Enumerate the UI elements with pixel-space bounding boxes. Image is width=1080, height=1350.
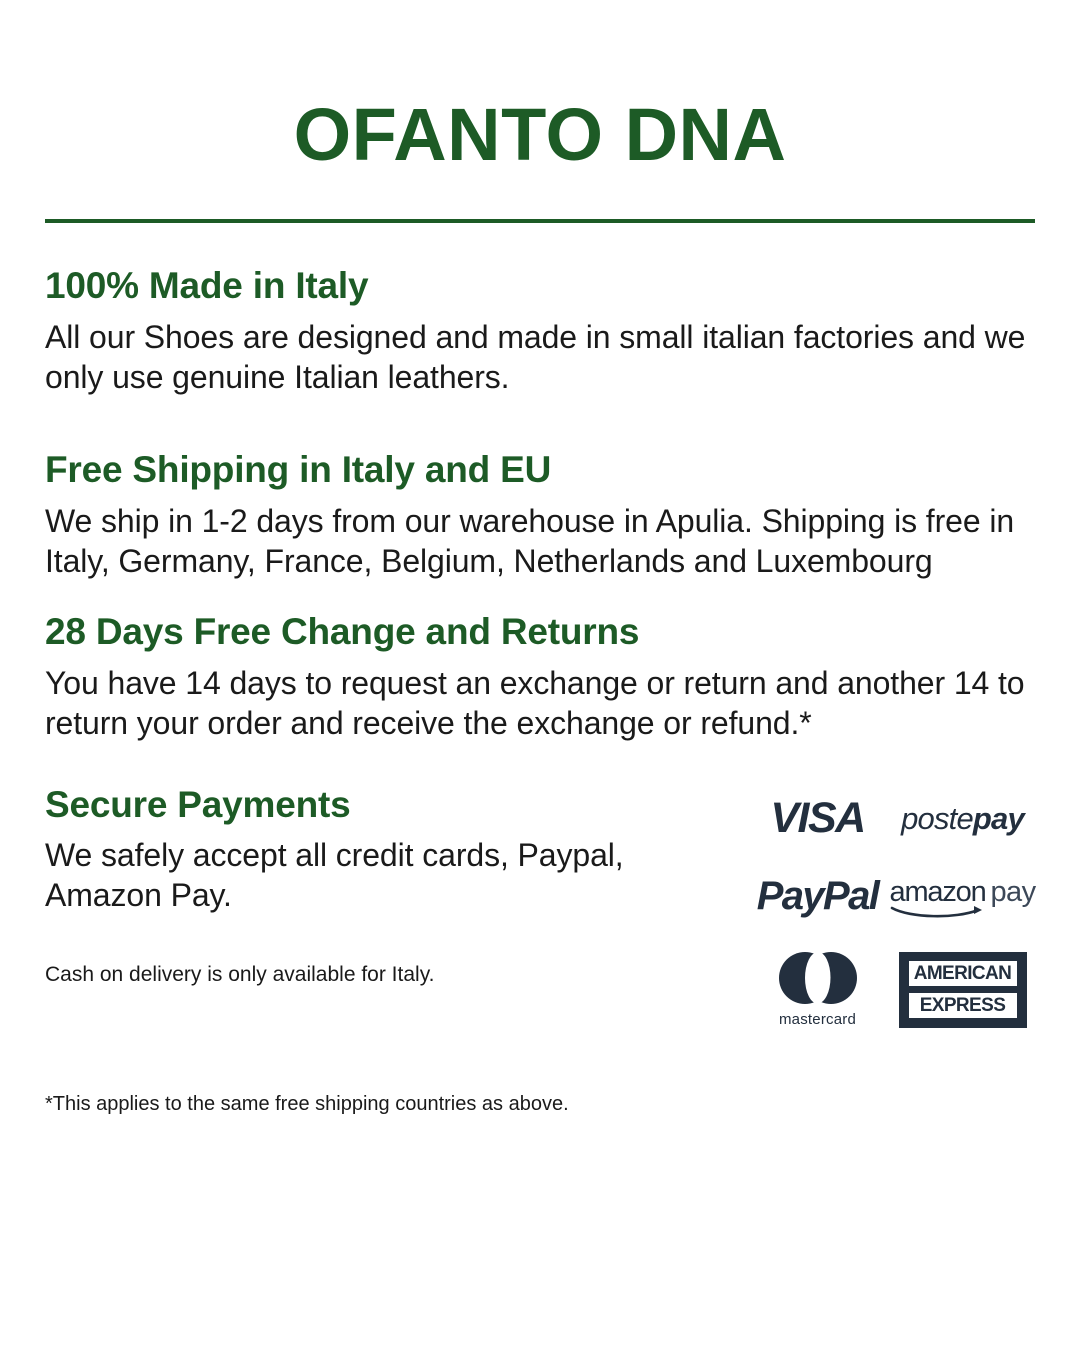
postepay-logo-cell: postepay (890, 791, 1035, 847)
section-secure-payments: Secure Payments We safely accept all cre… (45, 784, 1035, 1033)
visa-logo-cell: VISA (745, 791, 890, 847)
title-divider (45, 219, 1035, 223)
postepay-label-light: poste (901, 801, 973, 836)
section-change-and-returns: 28 Days Free Change and Returns You have… (45, 611, 1035, 743)
section-body-change-and-returns: You have 14 days to request an exchange … (45, 663, 1035, 744)
amazon-pay-icon: amazonpay (890, 876, 1036, 918)
page-title: OFANTO DNA (45, 98, 1035, 172)
sections-container: 100% Made in Italy All our Shoes are des… (45, 265, 1035, 1117)
section-made-in-italy: 100% Made in Italy All our Shoes are des… (45, 265, 1035, 397)
section-heading-free-shipping: Free Shipping in Italy and EU (45, 449, 1035, 492)
section-body-secure-payments: We safely accept all credit cards, Paypa… (45, 835, 695, 916)
section-heading-change-and-returns: 28 Days Free Change and Returns (45, 611, 1035, 654)
cash-on-delivery-note: Cash on delivery is only available for I… (45, 961, 695, 988)
title-block: OFANTO DNA (45, 0, 1035, 223)
amazon-smile-icon (890, 905, 994, 919)
section-heading-secure-payments: Secure Payments (45, 784, 695, 827)
mastercard-circles (779, 952, 857, 1004)
secure-payments-text: Secure Payments We safely accept all cre… (45, 784, 695, 988)
section-free-shipping: Free Shipping in Italy and EU We ship in… (45, 449, 1035, 581)
amazon-label: amazon (890, 876, 986, 908)
mastercard-overlap (805, 952, 831, 1004)
section-heading-made-in-italy: 100% Made in Italy (45, 265, 1035, 308)
visa-icon: VISA (770, 794, 864, 843)
amex-logo-cell: AMERICAN EXPRESS (890, 947, 1035, 1033)
mastercard-icon: mastercard (779, 952, 857, 1028)
paypal-icon: PayPal (757, 874, 879, 919)
payment-logos: VISA postepay PayPal amazonpay (745, 791, 1035, 1033)
american-express-icon: AMERICAN EXPRESS (899, 952, 1027, 1028)
mastercard-logo-cell: mastercard (745, 947, 890, 1033)
footnote: *This applies to the same free shipping … (45, 1091, 1035, 1117)
paypal-logo-cell: PayPal (745, 869, 890, 925)
mastercard-label: mastercard (779, 1011, 856, 1028)
amex-line-one: AMERICAN (907, 959, 1019, 988)
amex-line-two: EXPRESS (907, 991, 1019, 1020)
amazon-pay-label: pay (991, 876, 1036, 908)
postepay-icon: postepay (901, 801, 1024, 837)
section-body-free-shipping: We ship in 1-2 days from our warehouse i… (45, 501, 1035, 582)
amazon-pay-logo-cell: amazonpay (890, 869, 1035, 925)
ofanto-dna-info-card: OFANTO DNA 100% Made in Italy All our Sh… (0, 0, 1080, 1350)
postepay-label-bold: pay (973, 801, 1024, 836)
section-body-made-in-italy: All our Shoes are designed and made in s… (45, 317, 1035, 398)
